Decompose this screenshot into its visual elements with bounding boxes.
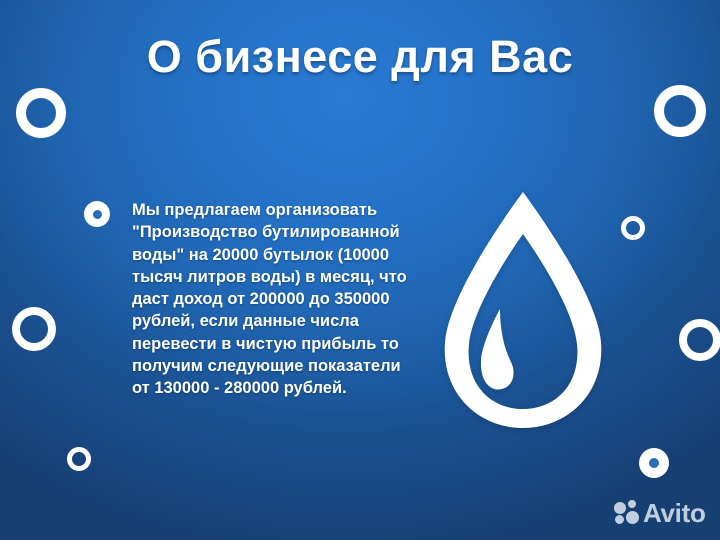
ring-top-right — [654, 85, 706, 137]
avito-dot-4 — [626, 511, 639, 524]
bullet-dot-center — [93, 210, 102, 219]
body-paragraph: Мы предлагаем организовать "Производство… — [132, 199, 422, 400]
water-drop-icon — [437, 186, 609, 434]
ring-top-left — [16, 88, 66, 138]
dot-ring-bottom-right — [639, 448, 669, 478]
ring-middle-right — [679, 319, 720, 361]
avito-dot-1 — [614, 502, 626, 514]
ring-small-right — [621, 216, 645, 240]
avito-dots-logo — [614, 500, 640, 526]
avito-dot-2 — [628, 500, 636, 508]
page-title: О бизнесе для Вас — [0, 31, 720, 83]
slide-canvas: О бизнесе для Вас Мы предлагаем организо… — [0, 0, 720, 540]
ring-middle-left — [12, 307, 56, 351]
avito-wordmark: Avito — [643, 500, 706, 526]
avito-watermark: Avito — [614, 500, 706, 526]
avito-dot-3 — [615, 515, 624, 524]
ring-small-bottom-left — [67, 447, 91, 471]
dot-ring-center — [649, 458, 659, 468]
bullet-dot-icon — [84, 201, 110, 227]
